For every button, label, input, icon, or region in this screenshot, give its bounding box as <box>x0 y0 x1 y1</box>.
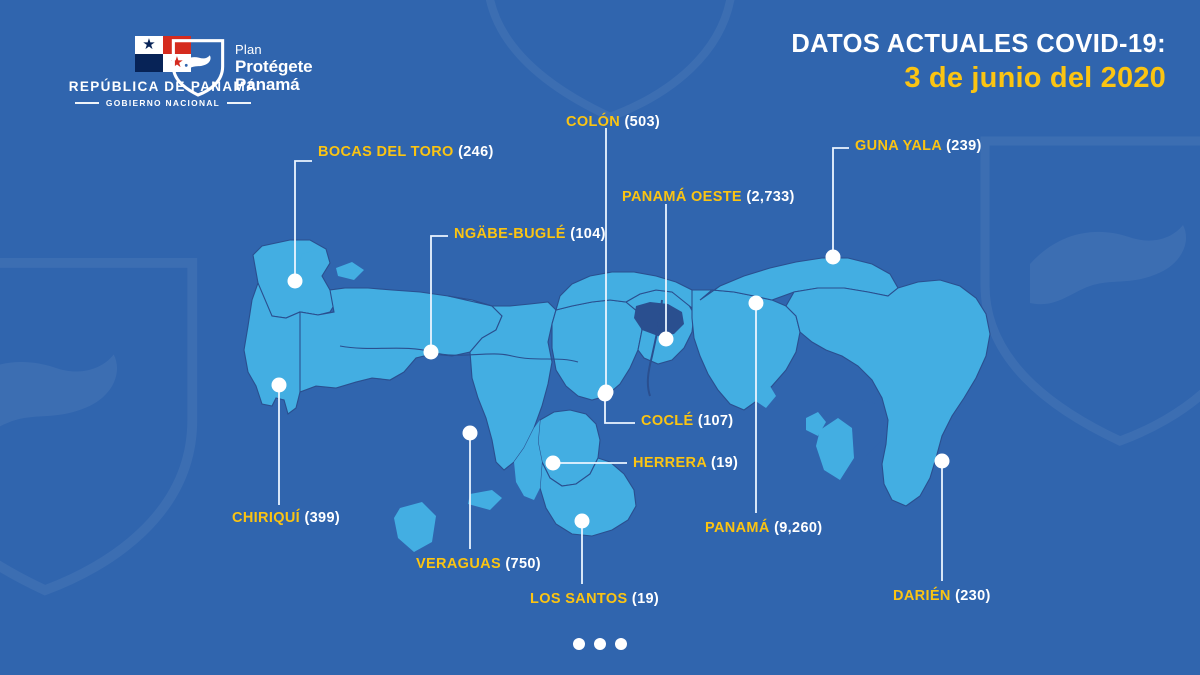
province-count: (19) <box>632 591 659 607</box>
infographic-canvas: ★ ★ REPÚBLICA DE PANAMÁ GOBIERNO NACIONA… <box>0 0 1200 675</box>
province-count: (750) <box>505 556 541 572</box>
label-ngabe-bugle[interactable]: NGÄBE-BUGLÉ (104) <box>454 227 606 242</box>
label-panama-oeste[interactable]: PANAMÁ OESTE (2,733) <box>622 190 795 205</box>
island-bastimentos <box>336 262 364 280</box>
leader-guna-yala <box>833 148 849 257</box>
label-panama[interactable]: PANAMÁ (9,260) <box>705 521 822 536</box>
marker-veraguas <box>463 426 478 441</box>
province-count: (230) <box>955 588 991 604</box>
marker-ngabe-bugle <box>424 345 439 360</box>
marker-los-santos <box>575 514 590 529</box>
province-name: DARIÉN <box>893 588 951 604</box>
province-name: PANAMÁ <box>705 520 770 536</box>
province-name: LOS SANTOS <box>530 591 628 607</box>
province-count: (9,260) <box>774 520 822 536</box>
label-cocle[interactable]: COCLÉ (107) <box>641 414 734 429</box>
province-count: (246) <box>458 144 494 160</box>
island-cebaco <box>468 490 502 510</box>
province-count: (107) <box>698 413 734 429</box>
province-count: (239) <box>946 138 982 154</box>
label-guna-yala[interactable]: GUNA YALA (239) <box>855 139 982 154</box>
province-name: BOCAS DEL TORO <box>318 144 454 160</box>
pagination-dots[interactable] <box>0 638 1200 650</box>
province-count: (399) <box>304 510 340 526</box>
marker-panama-oeste <box>659 332 674 347</box>
province-count: (503) <box>625 114 661 130</box>
province-name: COLÓN <box>566 114 620 130</box>
label-los-santos[interactable]: LOS SANTOS (19) <box>530 592 659 607</box>
province-shape-cocle[interactable] <box>552 300 642 400</box>
label-darien[interactable]: DARIÉN (230) <box>893 589 991 604</box>
marker-chiriqui <box>272 378 287 393</box>
pagination-dot-3[interactable] <box>615 638 627 650</box>
pagination-dot-1[interactable] <box>573 638 585 650</box>
province-name: NGÄBE-BUGLÉ <box>454 226 566 242</box>
province-count: (104) <box>570 226 606 242</box>
province-shape-panama[interactable] <box>692 290 800 410</box>
marker-bocas-del-toro <box>288 274 303 289</box>
label-herrera[interactable]: HERRERA (19) <box>633 456 738 471</box>
province-name: PANAMÁ OESTE <box>622 189 742 205</box>
marker-herrera <box>546 456 561 471</box>
pagination-dot-2[interactable] <box>594 638 606 650</box>
marker-panama <box>749 296 764 311</box>
map-landmass <box>244 240 990 552</box>
province-shape-darien[interactable] <box>786 280 990 506</box>
island-coiba <box>394 502 436 552</box>
province-count: (19) <box>711 455 738 471</box>
province-name: COCLÉ <box>641 413 694 429</box>
marker-cocle <box>598 387 613 402</box>
marker-darien <box>935 454 950 469</box>
province-count: (2,733) <box>746 189 794 205</box>
province-name: GUNA YALA <box>855 138 942 154</box>
marker-guna-yala <box>826 250 841 265</box>
label-veraguas[interactable]: VERAGUAS (750) <box>416 557 541 572</box>
label-colon[interactable]: COLÓN (503) <box>566 115 660 130</box>
label-bocas-del-toro[interactable]: BOCAS DEL TORO (246) <box>318 145 494 160</box>
panama-map <box>0 0 1200 675</box>
province-name: CHIRIQUÍ <box>232 510 300 526</box>
province-name: HERRERA <box>633 455 707 471</box>
label-chiriqui[interactable]: CHIRIQUÍ (399) <box>232 511 340 526</box>
province-name: VERAGUAS <box>416 556 501 572</box>
